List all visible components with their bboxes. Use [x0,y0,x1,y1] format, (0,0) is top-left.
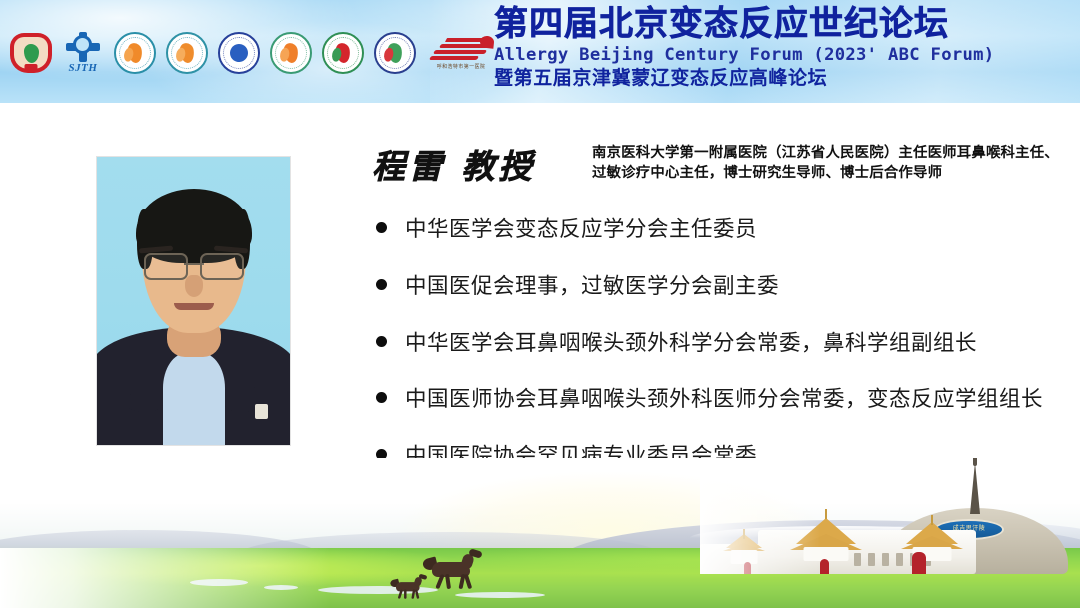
logo-circular-emblem-orange-2 [164,30,210,76]
list-item-label: 中华医学会耳鼻咽喉头颈外科学分会常委，鼻科学组副组长 [405,327,977,362]
speaker-portrait-photo [97,157,290,445]
list-item: 中华医学会变态反应学分会主任委员 [376,213,1066,248]
conference-title-chinese: 第四届北京变态反应世纪论坛 [494,6,1074,43]
logo-circular-emblem-blue-globe [216,30,262,76]
presentation-slide: SJTH [0,0,1080,608]
water-puddle [318,586,438,594]
list-item: 中华医学会耳鼻咽喉头颈外科学分会常委，鼻科学组副组长 [376,327,1066,362]
list-item-label: 中国医促会理事，过敏医学分会副主委 [405,270,779,305]
eyeglasses-shape [144,253,244,277]
pavilion-right [906,522,958,544]
bullet-dot-icon [376,222,387,233]
horse-large [432,556,486,590]
header-title-block: 第四届北京变态反应世纪论坛 Allergy Beijing Century Fo… [494,6,1074,90]
horse-small [396,578,417,592]
mausoleum-left-fade [700,466,820,574]
logo-circular-emblem-orange-3 [268,30,314,76]
list-item: 中国医促会理事，过敏医学分会副主委 [376,270,1066,305]
logo-sjth-label: SJTH [69,63,98,74]
logo-sjth-cross: SJTH [60,30,106,76]
sponsor-logo-strip: SJTH [8,22,478,84]
mausoleum-door [820,559,829,574]
speaker-name: 程雷 教授 [372,140,536,188]
mausoleum-door [912,552,926,574]
conference-subtitle-chinese: 暨第五届京津冀蒙辽变态反应高峰论坛 [494,68,1074,90]
conference-title-english: Allergy Beijing Century Forum (2023' ABC… [494,45,1074,66]
bullet-dot-icon [376,336,387,347]
lapel-badge [255,404,268,419]
list-item-label: 中华医学会变态反应学分会主任委员 [405,213,757,248]
swoosh-icon [430,36,492,62]
mausoleum-complex: 成吉思汗陵 [700,466,1072,574]
bullet-dot-icon [376,279,387,290]
logo-hospital-label: 呼和浩特市第一医院 [437,64,486,70]
logo-circular-emblem-green-blue [372,30,418,76]
list-item: 中国医师协会耳鼻咽喉头颈外科医师分会常委，变态反应学组组长 [376,383,1066,418]
logo-circular-emblem-orange-1 [112,30,158,76]
mausoleum-spire [970,462,980,514]
bullet-dot-icon [376,392,387,403]
conference-header-banner: SJTH [0,0,1080,103]
water-puddle [455,592,545,598]
speaker-affiliation: 南京医科大学第一附属医院（江苏省人民医院）主任医师耳鼻喉科主任、过敏诊疗中心主任… [592,143,1062,184]
speaker-credentials-list: 中华医学会变态反应学分会主任委员 中国医促会理事，过敏医学分会副主委 中华医学会… [376,213,1066,475]
logo-circular-emblem-red-green [320,30,366,76]
list-item-label: 中国医师协会耳鼻咽喉头颈外科医师分会常委，变态反应学组组长 [405,383,1043,418]
footer-grassland-scene: 成吉思汗陵 [0,458,1080,608]
logo-red-swoosh-hospital: 呼和浩特市第一医院 [424,30,498,76]
grassland-left-fade [0,548,330,608]
logo-red-shield-emblem [8,30,54,76]
